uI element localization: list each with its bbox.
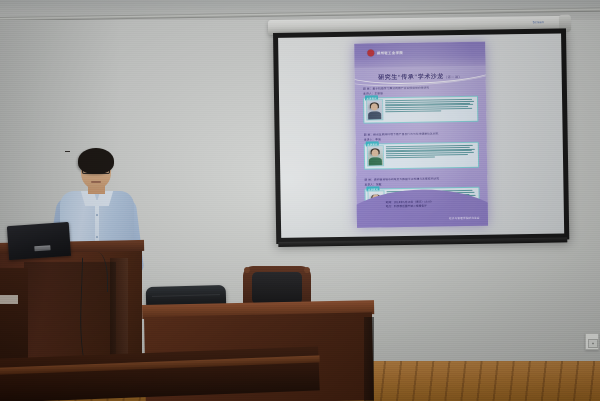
presenter-hair bbox=[78, 148, 114, 174]
slide-title-subtitle: （第一讲） bbox=[444, 75, 462, 79]
university-seal-icon bbox=[368, 50, 375, 56]
entry-1-card: 主讲嘉宾 bbox=[363, 96, 478, 124]
chair-knob-right bbox=[304, 267, 310, 273]
slide-footer-place: 地点：科学校区图书馆二楼报告厅 bbox=[386, 205, 432, 210]
bag-seam bbox=[152, 294, 220, 297]
entry-1-bio bbox=[385, 98, 476, 120]
desk-right-edge bbox=[364, 317, 374, 401]
lecture-room-photo: Screen 郑州轻工业学院 研究生“传承”学术沙龙（第一讲） 题 目：基于机器… bbox=[0, 0, 600, 401]
wall-power-socket[interactable] bbox=[585, 333, 599, 350]
laptop-lid bbox=[7, 222, 71, 260]
slide-title-text: 研究生“传承”学术沙龙 bbox=[378, 74, 444, 81]
projection-surface: 郑州轻工业学院 研究生“传承”学术沙龙（第一讲） 题 目：基于机器学习算法的用户… bbox=[278, 33, 564, 237]
roller-brand-label: Screen bbox=[533, 20, 544, 24]
chair-leather-pad bbox=[252, 272, 302, 304]
slide-footer-info: 时间：2018年5月18日（周五）15:00 地点：科学校区图书馆二楼报告厅 bbox=[386, 201, 432, 210]
entry-2-card: 主讲嘉宾 bbox=[364, 142, 479, 170]
lectern-name-plate bbox=[0, 295, 18, 304]
portrait-body bbox=[369, 158, 381, 166]
projection-screen: 郑州轻工业学院 研究生“传承”学术沙龙（第一讲） 题 目：基于机器学习算法的用户… bbox=[273, 28, 569, 244]
portrait-body bbox=[368, 112, 380, 120]
slide-org-name: 郑州轻工业学院 bbox=[377, 50, 403, 55]
projected-slide: 郑州轻工业学院 研究生“传承”学术沙龙（第一讲） 题 目：基于机器学习算法的用户… bbox=[355, 42, 488, 228]
slide-entry-2: 题 目：移动互联网环境下用户信息行为与在线健康社区研究 主讲人：李强 主讲嘉宾 bbox=[364, 132, 479, 170]
chair-knob-left bbox=[244, 267, 250, 273]
slide-entry-1: 题 目：基于机器学习算法的用户评论情感倾向性研究 主讲人：王丽丽 主讲嘉宾 bbox=[363, 86, 478, 124]
slide-credit: 经济与管理学院研究生会 bbox=[449, 215, 480, 219]
entry-2-portrait bbox=[367, 146, 384, 167]
eyeglasses-bridge bbox=[65, 151, 70, 152]
entry-1-portrait bbox=[366, 100, 383, 121]
entry-2-bio bbox=[386, 144, 477, 166]
portrait-head bbox=[371, 104, 378, 111]
portrait-head bbox=[372, 150, 379, 157]
presenter-mouth bbox=[91, 181, 101, 183]
presenter-laptop[interactable] bbox=[7, 222, 71, 262]
